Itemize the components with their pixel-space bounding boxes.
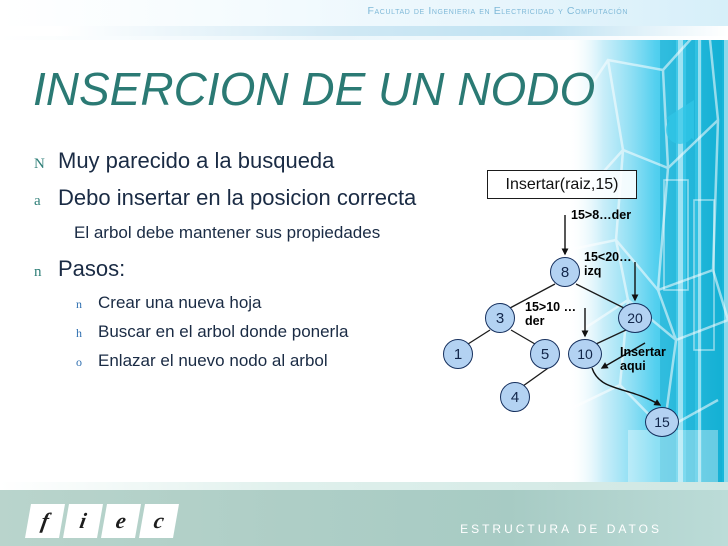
logo-letter-f: f	[25, 504, 65, 538]
annotation-compare-right: 15<20… izq	[584, 250, 642, 278]
bullet-marker-icon: h	[76, 326, 98, 341]
annotation-insert-here: Insertar aqui	[620, 345, 682, 373]
annotation-compare-root: 15>8…der	[571, 208, 631, 222]
tree-node-8: 8	[550, 257, 580, 287]
list-item: h Buscar en el arbol donde ponerla	[76, 322, 484, 342]
tree-node-15: 15	[645, 407, 679, 437]
list-item-label: Crear una nueva hoja	[98, 293, 262, 313]
insert-call-box: Insertar(raiz,15)	[487, 170, 637, 199]
list-item-label: El arbol debe mantener sus propiedades	[74, 223, 380, 243]
header-divider-secondary	[0, 36, 728, 40]
tree-node-4: 4	[500, 382, 530, 412]
bullet-list: N Muy parecido a la busqueda a Debo inse…	[34, 148, 484, 379]
footer-divider	[0, 482, 728, 490]
bullet-marker-icon: n	[34, 264, 58, 281]
faculty-name: Facultad de Ingenieria en Electricidad y…	[368, 5, 628, 17]
tree-node-10: 10	[568, 339, 602, 369]
tree-node-5: 5	[530, 339, 560, 369]
tree-node-3: 3	[485, 303, 515, 333]
logo-letter-e: e	[101, 504, 141, 538]
logo-letter-i: i	[63, 504, 103, 538]
slide: Facultad de Ingenieria en Electricidad y…	[0, 0, 728, 546]
annotation-compare-ten: 15>10 …der	[525, 300, 577, 328]
list-item-label: Buscar en el arbol donde ponerla	[98, 322, 348, 342]
logo-letter-c: c	[139, 504, 179, 538]
list-item-label: Pasos:	[58, 256, 125, 281]
list-item: n Pasos:	[34, 256, 484, 281]
page-title: INSERCION DE UN NODO	[33, 62, 595, 116]
tree-node-20: 20	[618, 303, 652, 333]
bullet-marker-icon: N	[34, 156, 58, 173]
list-item: El arbol debe mantener sus propiedades	[74, 223, 484, 243]
tree-node-1: 1	[443, 339, 473, 369]
bullet-marker-icon: a	[34, 193, 58, 210]
list-item: n Crear una nueva hoja	[76, 293, 484, 313]
bullet-marker-icon: n	[76, 297, 98, 312]
list-item-label: Debo insertar en la posicion correcta	[58, 185, 416, 210]
header-divider	[0, 26, 728, 36]
list-item: a Debo insertar en la posicion correcta	[34, 185, 484, 210]
list-item: o Enlazar el nuevo nodo al arbol	[76, 351, 484, 371]
list-item-label: Muy parecido a la busqueda	[58, 148, 334, 173]
course-name: ESTRUCTURA DE DATOS	[460, 522, 662, 536]
bullet-marker-icon: o	[76, 355, 98, 370]
list-item-label: Enlazar el nuevo nodo al arbol	[98, 351, 328, 371]
list-item: N Muy parecido a la busqueda	[34, 148, 484, 173]
fiec-logo: f i e c	[25, 504, 179, 538]
